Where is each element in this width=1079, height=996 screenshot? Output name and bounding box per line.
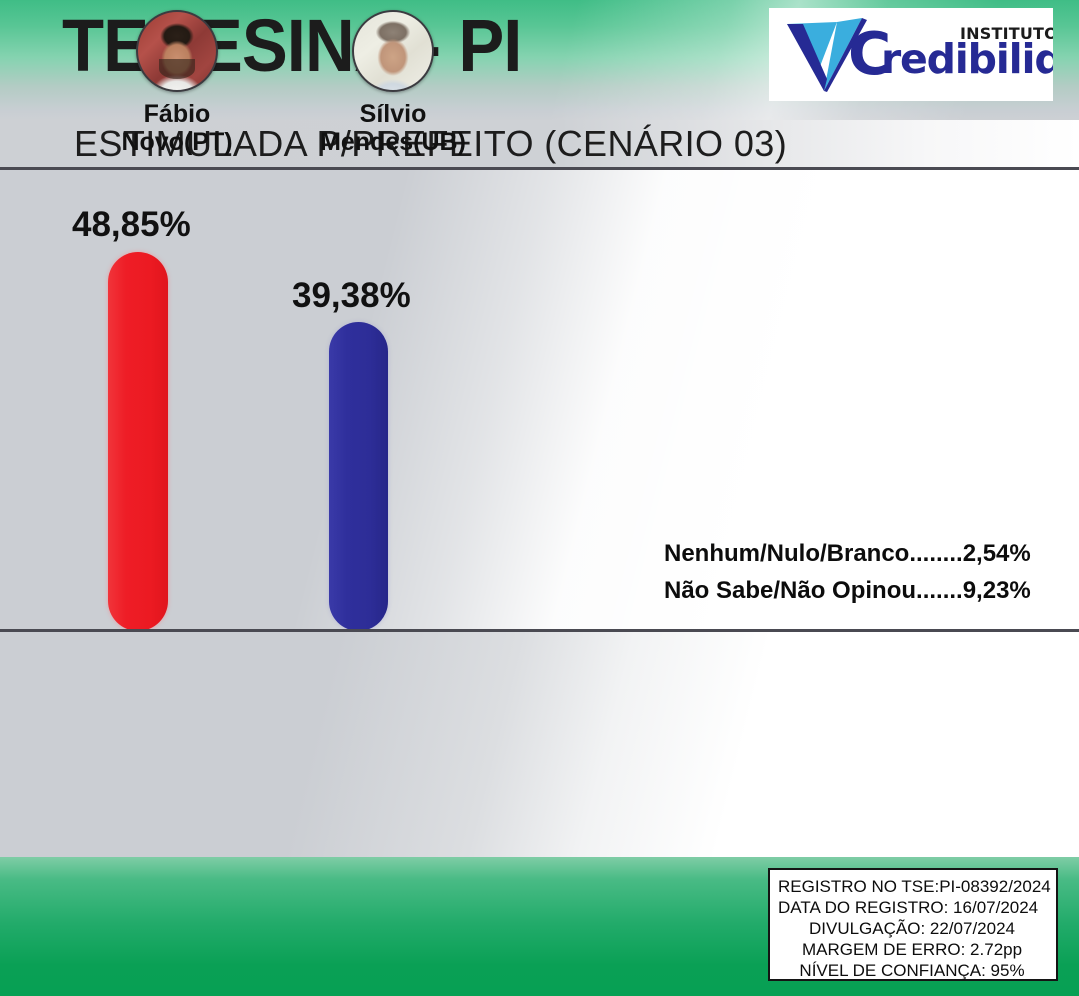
- bar-fabio-novo: [108, 252, 168, 631]
- institute-logo: C redibilidade INSTITUTO: [769, 8, 1053, 101]
- bar-value-label-silvio-mendes: 39,38%: [292, 278, 411, 313]
- poster-footer: REGISTRO NO TSE:PI-08392/2024 DATA DO RE…: [0, 857, 1079, 996]
- registro-line-margem-erro: MARGEM DE ERRO: 2.72pp: [778, 939, 1046, 960]
- other-responses-list: Nenhum/Nulo/Branco........2,54% Não Sabe…: [664, 535, 1064, 609]
- candidate-name-line1: Fábio: [144, 100, 211, 128]
- candidate-name-line1: Sílvio: [360, 100, 427, 128]
- candidate-silvio-mendes: Sílvio Mendes(UB): [288, 10, 498, 156]
- candidate-name-line2: Mendes(UB): [320, 128, 466, 156]
- registration-info-box: REGISTRO NO TSE:PI-08392/2024 DATA DO RE…: [768, 868, 1058, 981]
- bar-value-label-fabio-novo: 48,85%: [72, 207, 191, 242]
- list-item: Nenhum/Nulo/Branco........2,54%: [664, 535, 1064, 572]
- candidate-name-line2: Novo(PT): [121, 128, 232, 156]
- candidate-fabio-novo: Fábio Novo(PT): [72, 10, 282, 156]
- poll-poster: TERESINA - PI C redibilidade INSTITUTO E…: [0, 0, 1079, 996]
- candidate-name: Sílvio Mendes(UB): [288, 100, 498, 156]
- candidate-name: Fábio Novo(PT): [72, 100, 282, 156]
- avatar: [352, 10, 434, 92]
- avatar: [136, 10, 218, 92]
- candidates-area: [0, 632, 1079, 857]
- registro-line-tse: REGISTRO NO TSE:PI-08392/2024: [778, 876, 1046, 897]
- list-item: Não Sabe/Não Opinou.......9,23%: [664, 572, 1064, 609]
- registro-line-data-registro: DATA DO REGISTRO: 16/07/2024: [778, 897, 1046, 918]
- logo-kicker: INSTITUTO: [960, 26, 1053, 42]
- bar-silvio-mendes: [329, 322, 388, 631]
- logo-brand-word: redibilidade: [881, 39, 1053, 80]
- registro-line-divulgacao: DIVULGAÇÃO: 22/07/2024: [778, 918, 1046, 939]
- registro-line-nivel-confianca: NÍVEL DE CONFIANÇA: 95%: [778, 960, 1046, 981]
